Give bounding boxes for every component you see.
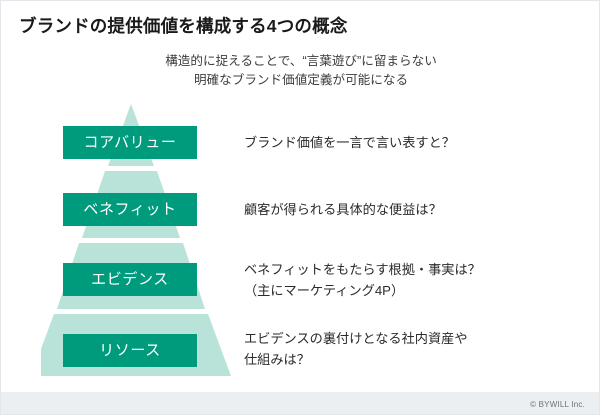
tier-description-evidence: ベネフィットをもたらす根拠・事実は？ （主にマーケティング4P） bbox=[244, 259, 589, 301]
tier-description-benefit: 顧客が得られる具体的な便益は？ bbox=[244, 199, 589, 220]
description-line-1: 顧客が得られる具体的な便益は？ bbox=[244, 199, 589, 220]
description-line-1: ベネフィットをもたらす根拠・事実は？ bbox=[244, 259, 589, 280]
footer-band bbox=[1, 392, 600, 414]
tier-label-text: ベネフィット bbox=[83, 202, 176, 217]
page-title: ブランドの提供価値を構成する4つの概念 bbox=[19, 13, 579, 38]
subtitle-line-1: 構造的に捉えることで、“言葉遊び”に留まらない bbox=[1, 52, 600, 71]
description-line-2: 仕組みは？ bbox=[244, 349, 589, 370]
tier-description-core-value: ブランド価値を一言で言い表すと？ bbox=[244, 132, 589, 153]
slide-subtitle: 構造的に捉えることで、“言葉遊び”に留まらない 明確なブランド価値定義が可能にな… bbox=[1, 52, 600, 90]
description-line-1: ブランド価値を一言で言い表すと？ bbox=[244, 132, 589, 153]
pyramid-tier-label-benefit[interactable]: ベネフィット bbox=[63, 193, 197, 226]
tier-description-resource: エビデンスの裏付けとなる社内資産や 仕組みは？ bbox=[244, 328, 589, 370]
tier-label-text: コアバリュー bbox=[83, 135, 176, 150]
slide-canvas: ブランドの提供価値を構成する4つの概念 構造的に捉えることで、“言葉遊び”に留ま… bbox=[0, 0, 600, 415]
description-line-2: （主にマーケティング4P） bbox=[244, 280, 589, 301]
tier-label-text: リソース bbox=[99, 343, 161, 358]
tier-label-text: エビデンス bbox=[91, 272, 169, 287]
footer-copyright: © BYWILL Inc. bbox=[530, 400, 585, 409]
subtitle-line-2: 明確なブランド価値定義が可能になる bbox=[1, 71, 600, 90]
description-line-1: エビデンスの裏付けとなる社内資産や bbox=[244, 328, 589, 349]
pyramid-tier-label-core-value[interactable]: コアバリュー bbox=[63, 126, 197, 159]
pyramid-tier-label-evidence[interactable]: エビデンス bbox=[63, 263, 197, 296]
pyramid-tier-label-resource[interactable]: リソース bbox=[63, 334, 197, 367]
